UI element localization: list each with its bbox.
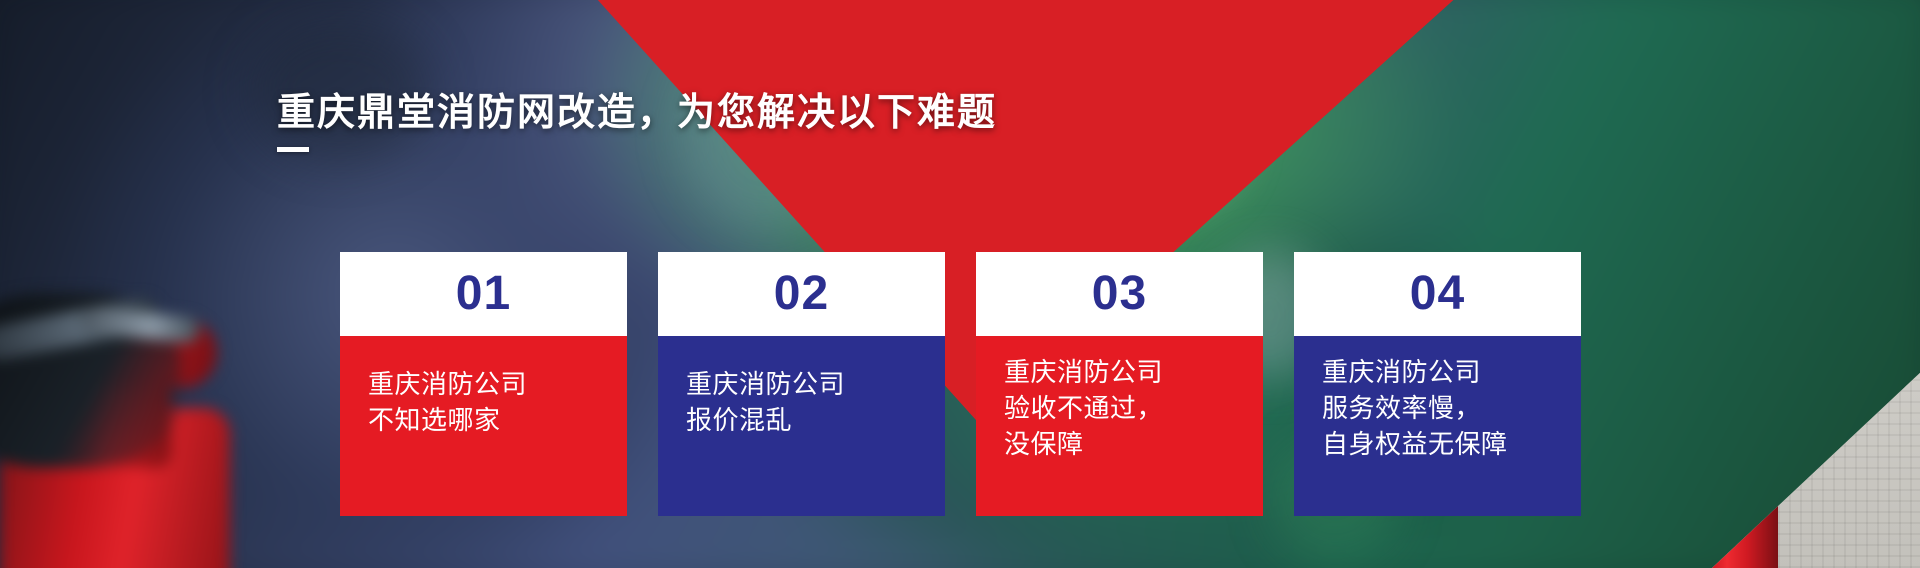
card-number-badge-03: 03 xyxy=(976,252,1263,336)
card-text-04: 重庆消防公司 服务效率慢， 自身权益无保障 xyxy=(1322,354,1553,462)
card-number-02: 02 xyxy=(774,270,829,318)
title-underline xyxy=(277,147,309,152)
problem-card-01[interactable]: 01 重庆消防公司 不知选哪家 xyxy=(340,252,627,516)
card-text-03: 重庆消防公司 验收不通过， 没保障 xyxy=(1004,354,1235,462)
card-number-badge-01: 01 xyxy=(340,252,627,336)
problem-card-02[interactable]: 02 重庆消防公司 报价混乱 xyxy=(658,252,945,516)
card-body-04: 重庆消防公司 服务效率慢， 自身权益无保障 xyxy=(1294,336,1581,516)
problem-card-03[interactable]: 03 重庆消防公司 验收不通过， 没保障 xyxy=(976,252,1263,516)
problem-card-list: 01 重庆消防公司 不知选哪家 02 重庆消防公司 报价混乱 03 重庆消防公司… xyxy=(340,252,1581,516)
page-title: 重庆鼎堂消防网改造，为您解决以下难题 xyxy=(277,85,997,141)
card-body-02: 重庆消防公司 报价混乱 xyxy=(658,336,945,516)
fire-hydrant-foreground xyxy=(0,298,330,568)
card-number-04: 04 xyxy=(1410,270,1465,318)
card-number-badge-04: 04 xyxy=(1294,252,1581,336)
card-text-02: 重庆消防公司 报价混乱 xyxy=(686,366,917,438)
banner-stage: 常 开 常 闭 常 闭 重庆鼎堂消防网改造，为您解决以下难题 01 重庆消防公司… xyxy=(0,0,1920,568)
card-body-01: 重庆消防公司 不知选哪家 xyxy=(340,336,627,516)
problem-card-04[interactable]: 04 重庆消防公司 服务效率慢， 自身权益无保障 xyxy=(1294,252,1581,516)
card-number-01: 01 xyxy=(456,270,511,318)
headline-block: 重庆鼎堂消防网改造，为您解决以下难题 xyxy=(277,85,997,152)
card-body-03: 重庆消防公司 验收不通过， 没保障 xyxy=(976,336,1263,516)
card-number-03: 03 xyxy=(1092,270,1147,318)
card-number-badge-02: 02 xyxy=(658,252,945,336)
card-text-01: 重庆消防公司 不知选哪家 xyxy=(368,366,599,438)
